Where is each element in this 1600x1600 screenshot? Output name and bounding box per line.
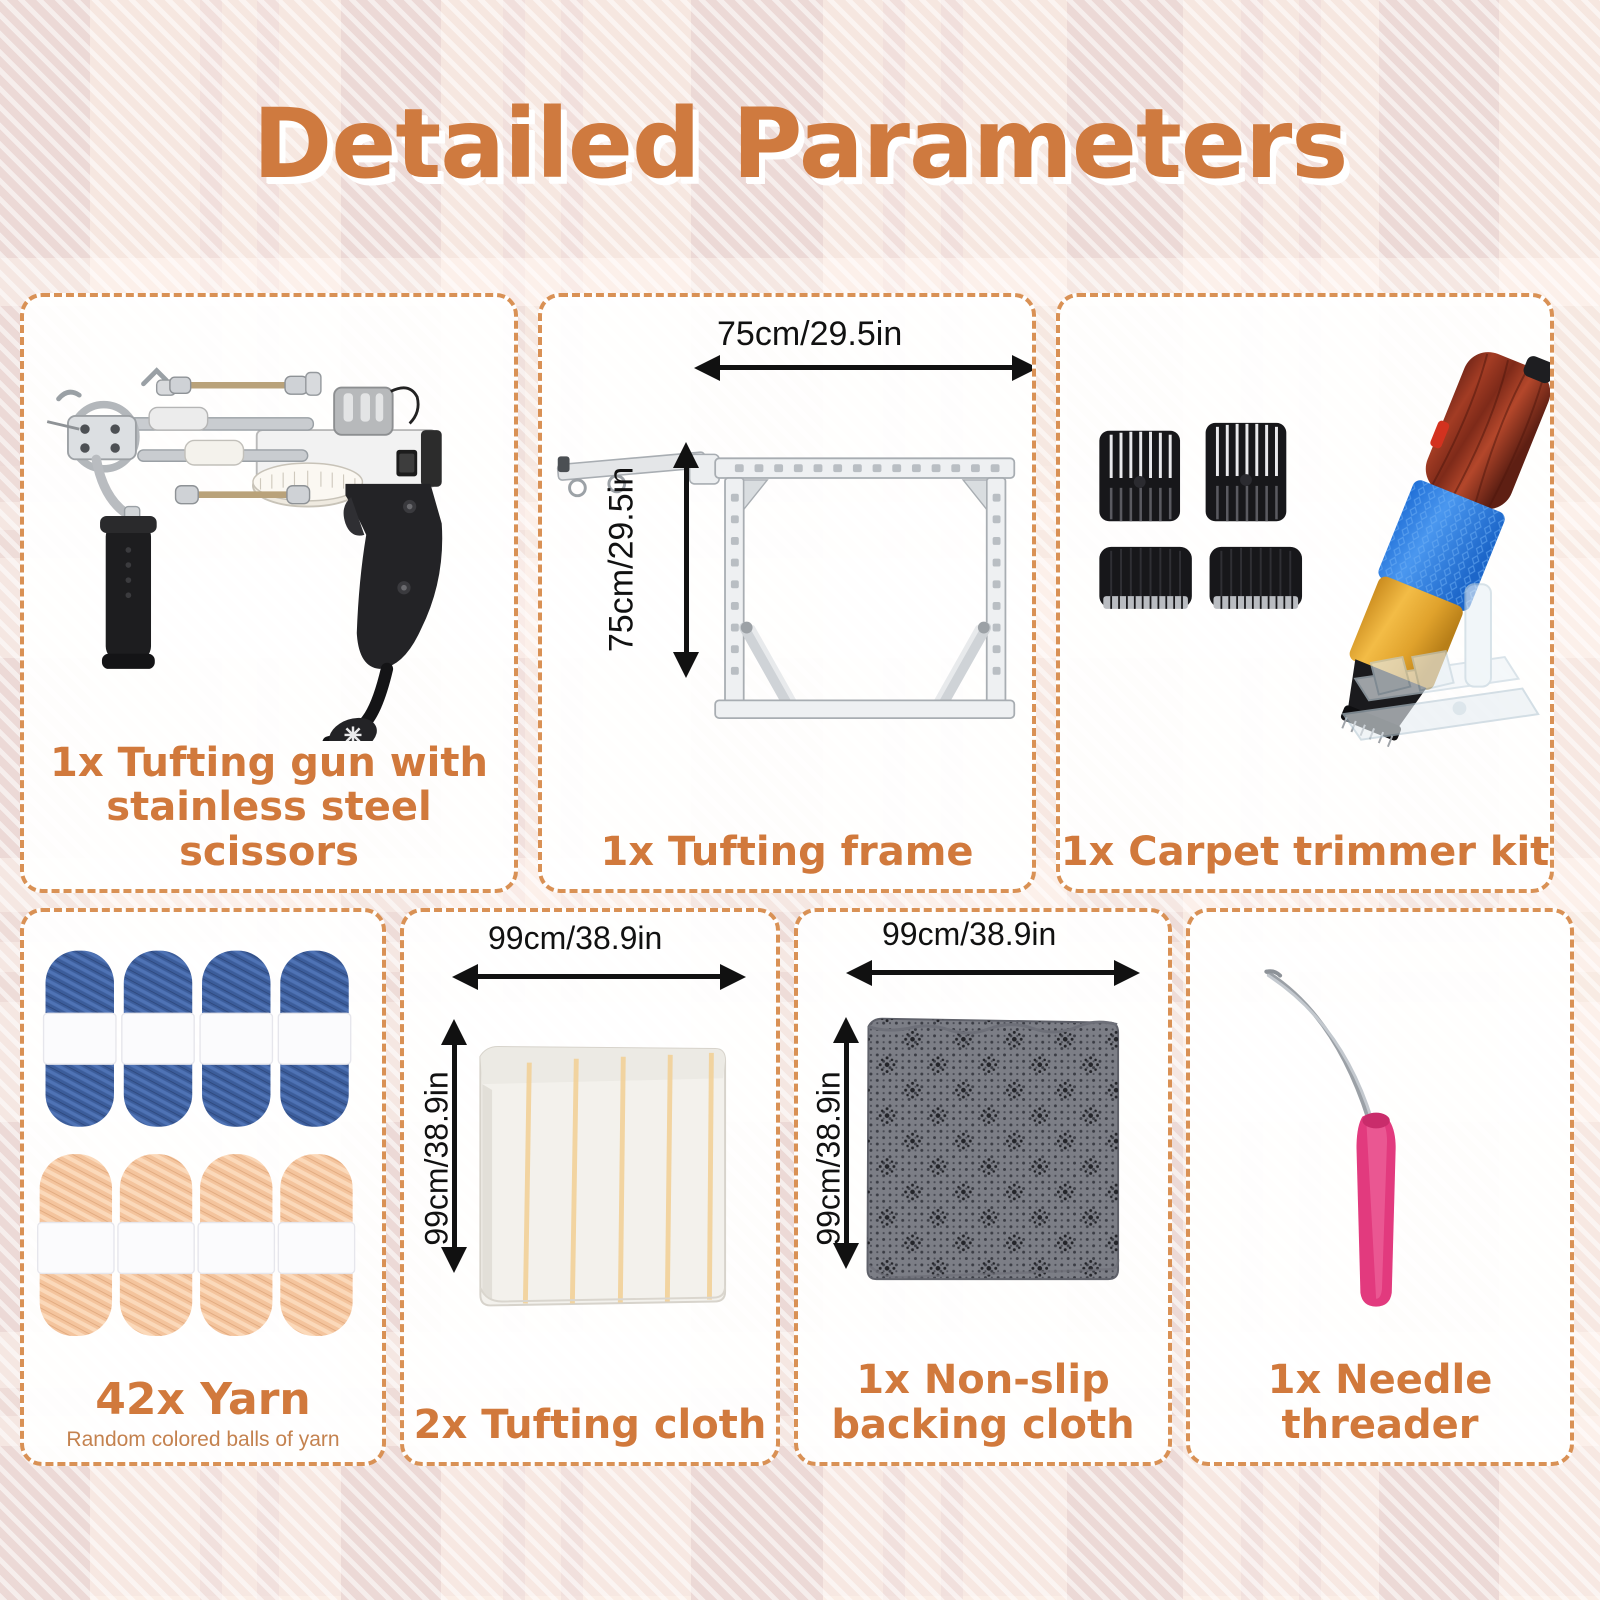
card-caption: 1x Tufting frame [542,830,1032,889]
frame-height-arrow [684,465,689,657]
backing-width-arrowhead-right [1114,960,1140,986]
card-caption: 1x Carpet trimmer kit [1060,830,1550,889]
card-tufting-gun[interactable]: 1x Tufting gun with stainless steel scis… [20,293,518,893]
card-caption: 2x Tufting cloth [404,1403,776,1462]
tufting-cloth-image: 99cm/38.9in 99cm/38.9in [404,912,776,1403]
needle-threader-image [1190,912,1570,1358]
carpet-trimmer-kit-image [1060,297,1550,830]
card-yarn[interactable]: 42x Yarn Random colored balls of yarn [20,908,386,1466]
card-caption: 1x Tufting gun with stainless steel scis… [24,741,514,889]
cloth-height-label: 99cm/38.9in [419,1049,456,1269]
card-caption: 1x Needle threader [1190,1358,1570,1462]
card-caption: 42x Yarn [24,1375,382,1428]
caption-line-1: 42x Yarn [24,1375,382,1424]
caption-line-2: backing cloth [798,1403,1168,1448]
cloth-width-label: 99cm/38.9in [488,920,662,957]
frame-width-arrowhead-left [694,355,720,381]
product-grid-bottom-row: 42x Yarn Random colored balls of yarn [20,908,1580,1466]
card-non-slip-backing-cloth[interactable]: 99cm/38.9in 99cm/38.9in 1x Non-slip back… [794,908,1172,1466]
caption-line-1: 2x Tufting cloth [404,1403,776,1448]
caption-line-1: 1x Tufting frame [542,830,1032,875]
backing-height-arrowhead-bottom [833,1243,859,1269]
frame-height-arrowhead-bottom [673,652,699,678]
backing-height-arrowhead-top [833,1017,859,1043]
frame-height-label: 75cm/29.5in [603,450,642,670]
cloth-height-arrow [452,1042,457,1252]
caption-line-2: stainless steel scissors [24,785,514,875]
card-carpet-trimmer-kit[interactable]: 1x Carpet trimmer kit [1056,293,1554,893]
frame-width-arrow [718,365,1018,370]
card-tufting-frame[interactable]: 75cm/29.5in 75cm/29.5in 1x Tufting frame [538,293,1036,893]
product-grid-top-row: 1x Tufting gun with stainless steel scis… [20,293,1580,893]
caption-line-1: 1x Tufting gun with [24,741,514,786]
cloth-width-arrow [476,974,726,979]
card-needle-threader[interactable]: 1x Needle threader [1186,908,1574,1466]
yarn-subtitle: Random colored balls of yarn [24,1428,382,1462]
card-caption: 1x Non-slip backing cloth [798,1358,1168,1462]
yarn-image [24,912,382,1375]
card-tufting-cloth[interactable]: 99cm/38.9in 99cm/38.9in 2x Tufting cloth [400,908,780,1466]
cloth-width-arrowhead-left [452,964,478,990]
non-slip-backing-cloth-image: 99cm/38.9in 99cm/38.9in [798,912,1168,1358]
cloth-height-arrowhead-bottom [441,1247,467,1273]
tufting-frame-image: 75cm/29.5in 75cm/29.5in [542,297,1032,830]
backing-height-arrow [844,1040,849,1248]
frame-width-arrowhead-right [1012,355,1036,381]
tufting-gun-image [24,297,514,741]
frame-height-arrowhead-top [673,442,699,468]
cloth-height-arrowhead-top [441,1019,467,1045]
backing-width-arrowhead-left [846,960,872,986]
page-title: Detailed Parameters [0,88,1600,200]
frame-width-label: 75cm/29.5in [717,315,902,354]
cloth-width-arrowhead-right [720,964,746,990]
backing-width-arrow [870,970,1120,975]
caption-line-1: 1x Needle threader [1190,1358,1570,1448]
backing-height-label: 99cm/38.9in [811,1049,848,1269]
backing-width-label: 99cm/38.9in [882,916,1056,953]
caption-line-1: 1x Non-slip [798,1358,1168,1403]
caption-line-1: 1x Carpet trimmer kit [1060,830,1550,875]
